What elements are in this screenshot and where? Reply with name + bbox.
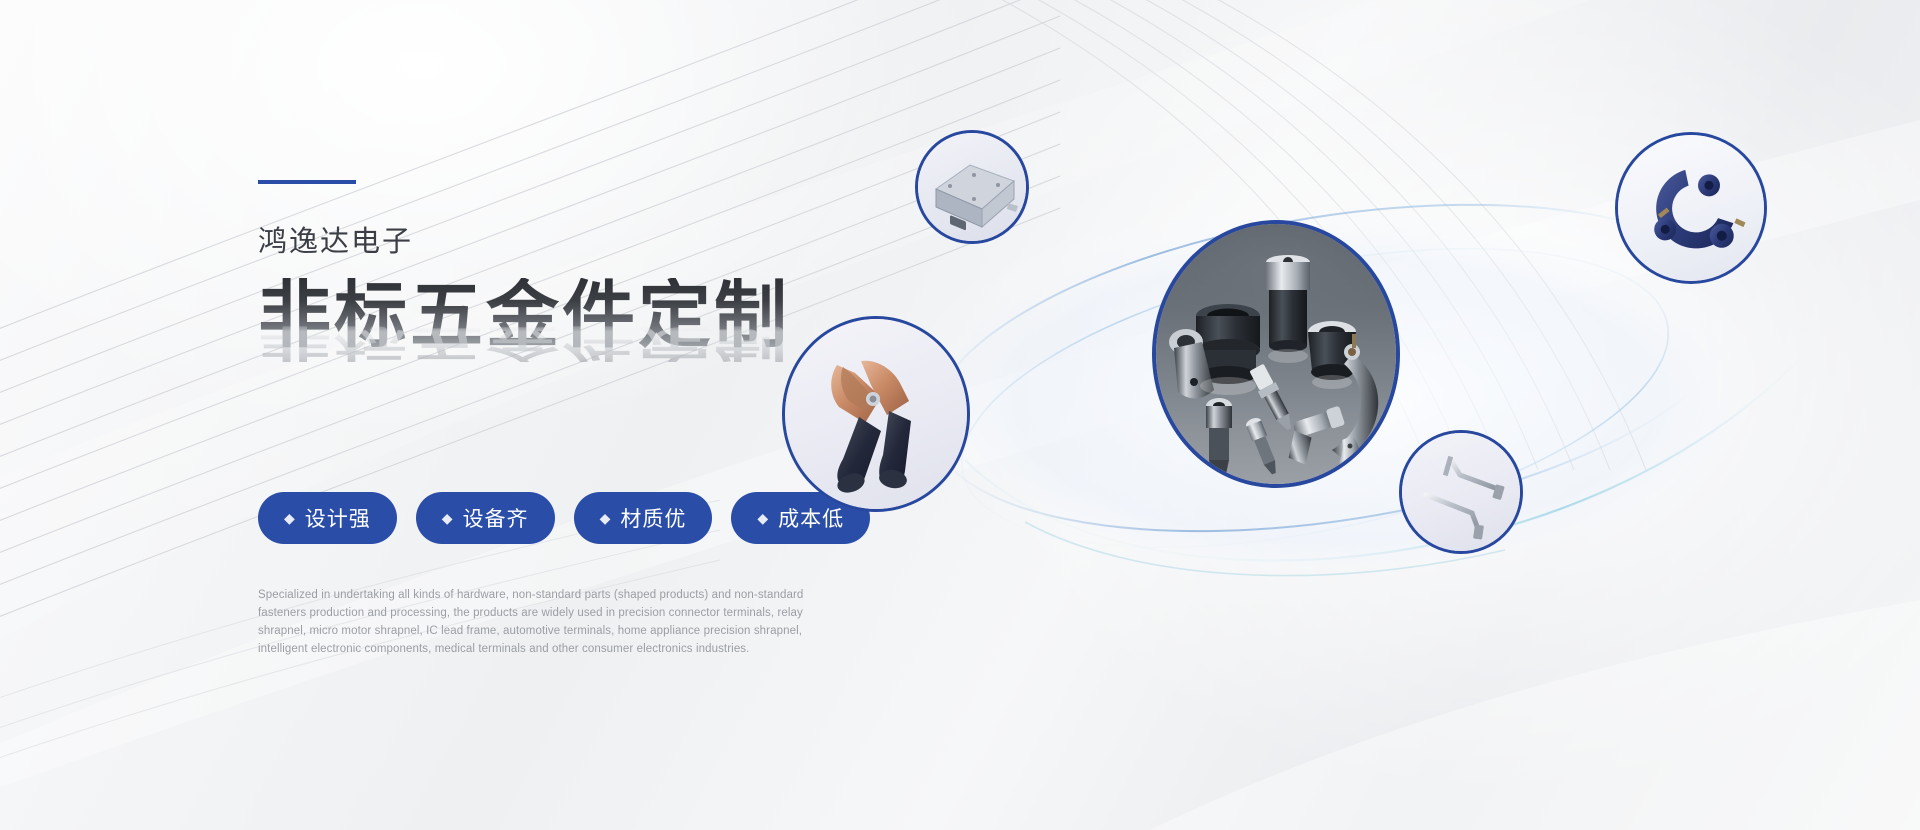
product-node-precision-components[interactable]: [1152, 220, 1400, 488]
product-node-battery-clamp[interactable]: [782, 316, 970, 512]
diamond-icon: ◆: [757, 511, 769, 525]
product-node-metal-enclosure[interactable]: [915, 130, 1029, 244]
brand-name: 鸿逸达电子: [258, 218, 898, 260]
product-showcase: [905, 130, 1915, 700]
precision-components-photo: [1156, 224, 1396, 484]
intro-paragraph: Specialized in undertaking all kinds of …: [258, 586, 824, 659]
feature-badge-material[interactable]: ◆ 材质优: [574, 492, 713, 544]
diamond-icon: ◆: [600, 511, 612, 525]
product-node-retaining-clip[interactable]: [1615, 132, 1767, 284]
feature-badge-design[interactable]: ◆ 设计强: [258, 492, 397, 544]
feature-badge-label: 设计强: [305, 503, 371, 533]
feature-badge-label: 材质优: [620, 503, 686, 533]
metal-enclosure-photo: [918, 133, 1026, 241]
accent-rule: [258, 180, 356, 184]
hero-banner: 鸿逸达电子 非标五金件定制 非标五金件定制 ◆ 设计强 ◆ 设备齐 ◆ 材质优 …: [0, 0, 1920, 830]
product-node-terminal-pins[interactable]: [1399, 430, 1523, 554]
retaining-clip-photo: [1618, 135, 1764, 281]
terminal-pins-photo: [1402, 433, 1520, 551]
feature-badge-equipment[interactable]: ◆ 设备齐: [416, 492, 555, 544]
diamond-icon: ◆: [442, 511, 454, 525]
feature-badge-label: 设备齐: [463, 503, 529, 533]
diamond-icon: ◆: [284, 511, 296, 525]
battery-clamp-photo: [785, 319, 967, 509]
